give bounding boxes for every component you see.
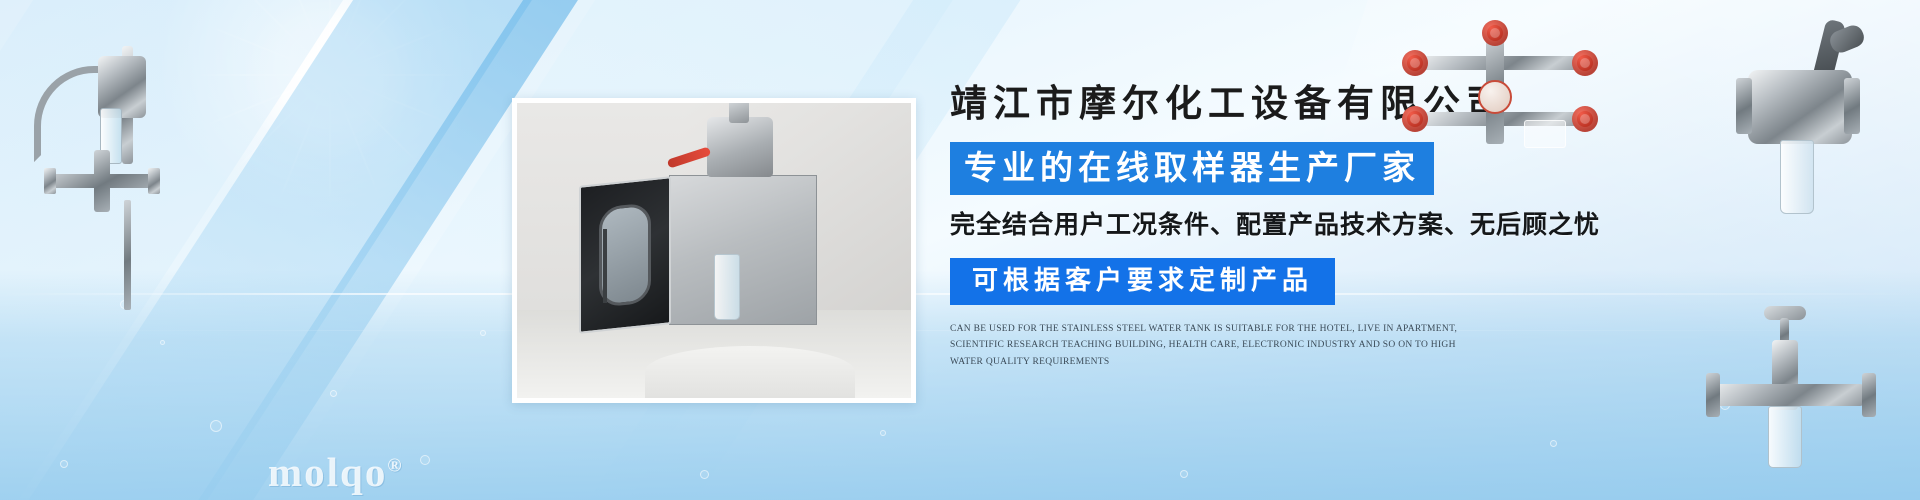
water-droplet xyxy=(420,455,430,465)
water-droplet xyxy=(160,340,165,345)
water-droplet xyxy=(1180,470,1188,478)
custom-product-cta[interactable]: 可根据客户要求定制产品 xyxy=(950,258,1335,305)
pipe-flange xyxy=(1736,78,1752,134)
inline-sampling-valve-illustration xyxy=(1706,322,1876,482)
pipe-flange xyxy=(1844,78,1860,134)
product-photo xyxy=(517,103,911,398)
sight-glass xyxy=(1524,120,1566,148)
headline-badge: 专业的在线取样器生产厂家 xyxy=(950,142,1434,195)
red-handwheel-icon xyxy=(1402,106,1428,132)
product-photo-frame xyxy=(512,98,916,403)
registered-mark: ® xyxy=(387,455,401,476)
sampler-assembly-illustration xyxy=(18,30,188,290)
banner-text-column: 靖江市摩尔化工设备有限公司 专业的在线取样器生产厂家 完全结合用户工况条件、配置… xyxy=(950,86,1790,370)
sampler-cabinet xyxy=(669,175,817,325)
photo-pedestal xyxy=(645,346,855,398)
water-droplet xyxy=(880,430,886,436)
valve-body xyxy=(94,150,110,212)
pipe-flange xyxy=(1862,373,1876,417)
pipe-flange xyxy=(148,168,160,194)
brand-watermark: molqo® xyxy=(268,452,402,493)
sight-glass xyxy=(1768,406,1802,468)
horizontal-pipe xyxy=(1708,384,1864,406)
english-description: CAN BE USED FOR THE STAINLESS STEEL WATE… xyxy=(950,321,1460,371)
promo-banner: 靖江市摩尔化工设备有限公司 专业的在线取样器生产厂家 完全结合用户工况条件、配置… xyxy=(0,0,1920,500)
sample-bottle xyxy=(714,254,740,320)
water-droplet xyxy=(60,460,68,468)
water-droplet xyxy=(700,470,709,479)
probe-stem xyxy=(124,200,131,310)
red-handwheel-icon xyxy=(1482,20,1508,46)
watermark-text: molqo xyxy=(268,449,387,495)
company-seal-icon xyxy=(1478,80,1512,114)
cabinet-door xyxy=(579,176,671,334)
red-handwheel-icon xyxy=(1572,106,1598,132)
water-droplet xyxy=(1550,440,1557,447)
red-handwheel-icon xyxy=(1572,50,1598,76)
sampling-valve-head xyxy=(707,117,773,177)
sub-headline: 完全结合用户工况条件、配置产品技术方案、无后顾之忧 xyxy=(950,212,1790,240)
lever-valve-illustration xyxy=(1734,22,1882,232)
valve-body xyxy=(1748,70,1852,144)
drain-tube xyxy=(603,229,607,303)
pipe-flange xyxy=(1706,373,1720,417)
red-handwheel-icon xyxy=(1402,50,1428,76)
pipe-flange xyxy=(44,168,56,194)
sample-tube xyxy=(1780,140,1814,214)
water-droplet xyxy=(210,420,222,432)
christmas-tree-valve-illustration xyxy=(1400,28,1600,158)
water-droplet xyxy=(330,390,337,397)
water-droplet xyxy=(480,330,486,336)
company-name: 靖江市摩尔化工设备有限公司 xyxy=(950,86,1790,123)
valve-cross xyxy=(46,150,158,212)
